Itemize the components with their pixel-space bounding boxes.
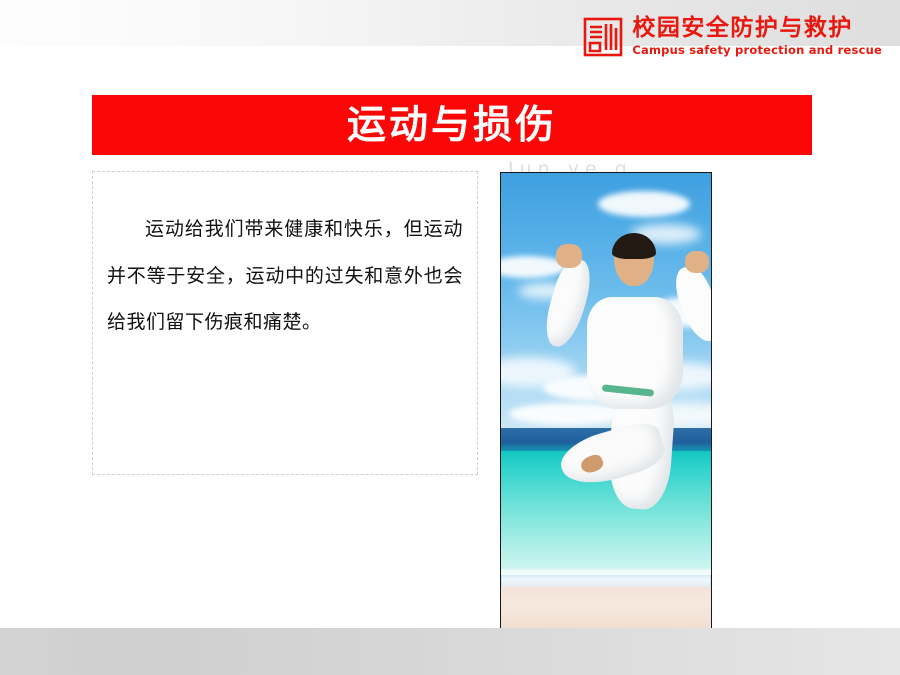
- body-text-box: 运动给我们带来健康和快乐，但运动并不等于安全，运动中的过失和意外也会给我们留下伤…: [92, 171, 478, 475]
- slide-canvas: 校园安全防护与救护 Campus safety protection and r…: [0, 0, 900, 675]
- page-title: 运动与损伤: [347, 106, 557, 145]
- brand-name-cn: 校园安全防护与救护: [632, 17, 853, 40]
- right-fist: [685, 251, 709, 273]
- footer-band: [0, 628, 900, 675]
- brand-name-en: Campus safety protection and rescue: [632, 45, 882, 57]
- brand-logo: 校园安全防护与救护 Campus safety protection and r…: [582, 16, 882, 58]
- seal-logo-icon: [582, 16, 624, 58]
- photo-canvas: [501, 173, 711, 633]
- sand-layer: [501, 587, 711, 633]
- left-fist: [556, 244, 582, 268]
- title-banner: 运动与损伤: [92, 95, 812, 155]
- hair: [612, 233, 656, 259]
- beach-photo: [500, 172, 712, 634]
- body-paragraph: 运动给我们带来健康和快乐，但运动并不等于安全，运动中的过失和意外也会给我们留下伤…: [107, 206, 463, 346]
